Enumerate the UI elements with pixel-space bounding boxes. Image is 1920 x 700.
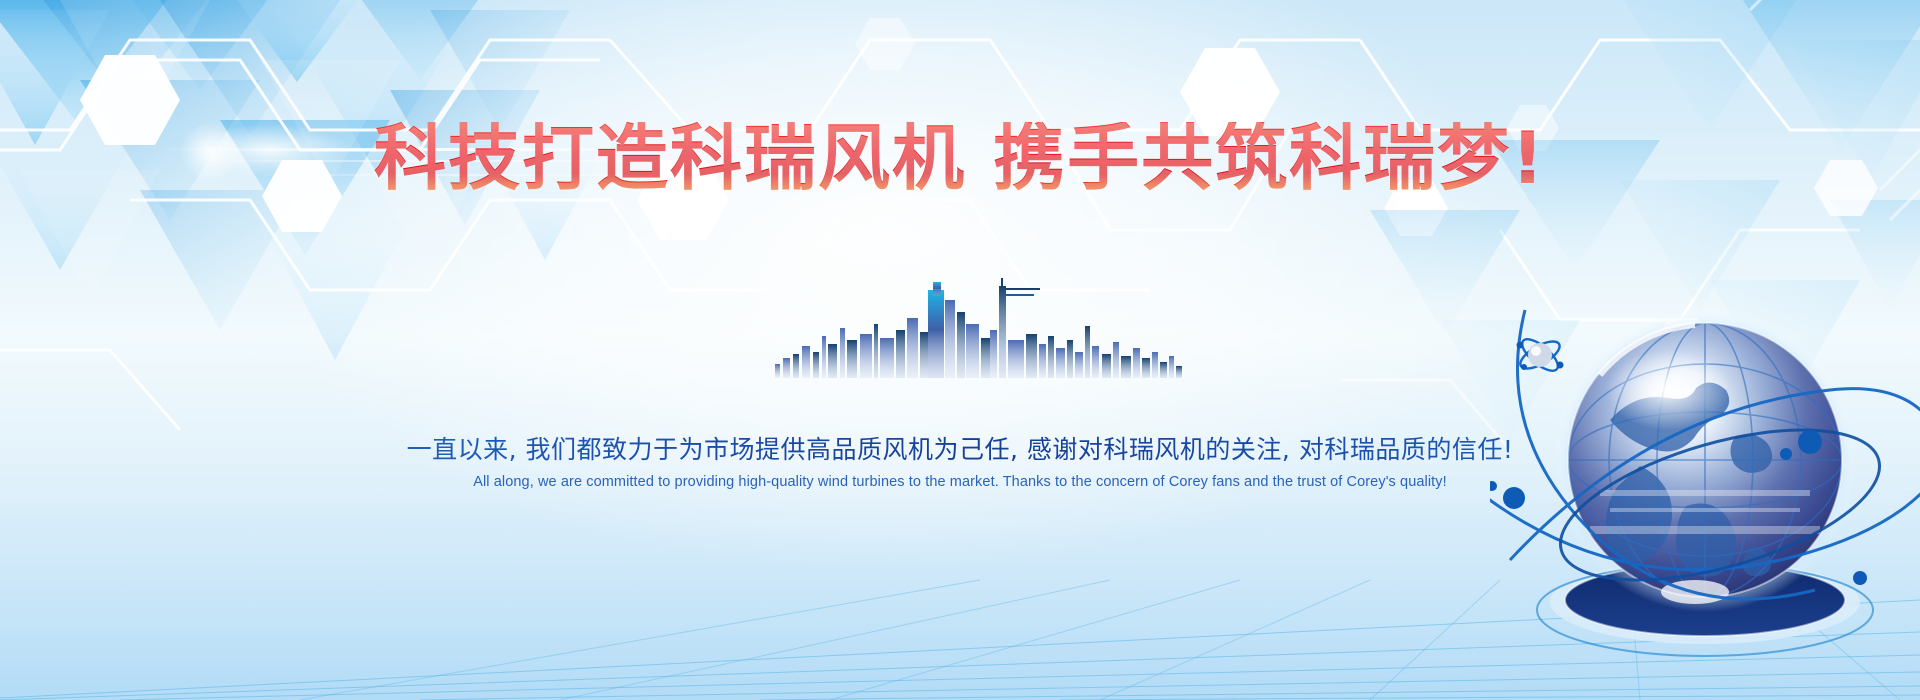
globe-network-icon	[1490, 270, 1920, 670]
page-title: 科技打造科瑞风机 携手共筑科瑞梦!	[0, 122, 1920, 194]
city-skyline-icon	[767, 268, 1197, 378]
promo-banner: 科技打造科瑞风机 携手共筑科瑞梦! 一直以来, 我们都致力于为市场提供高品质风机…	[0, 0, 1920, 700]
